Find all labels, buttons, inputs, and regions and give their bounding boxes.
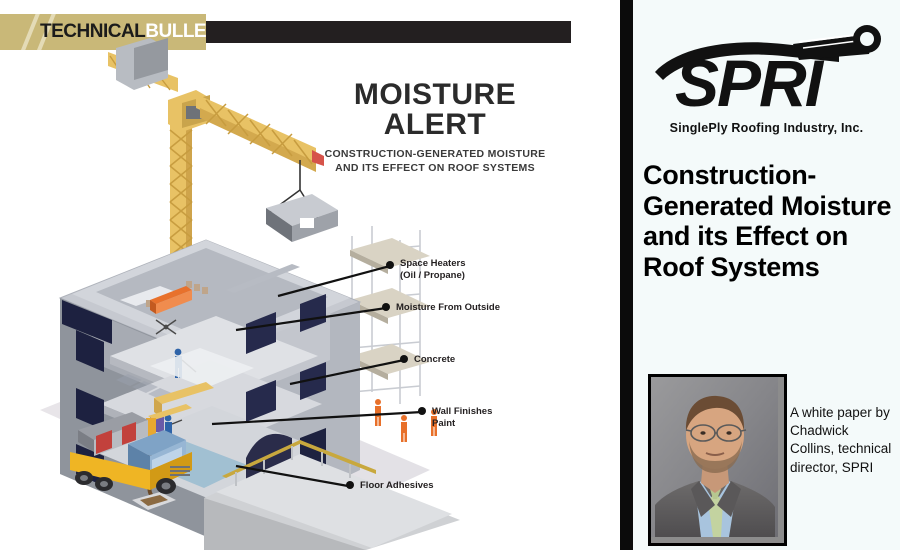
worker-orange-icon <box>375 399 381 426</box>
worker-orange-icon <box>401 415 407 442</box>
moisture-alert-subtitle-line1: CONSTRUCTION-GENERATED MOISTURE <box>300 147 570 161</box>
author-photo <box>648 374 787 546</box>
white-paper-title: Construction-Generated Moisture and its … <box>643 160 895 282</box>
callout-dot-floor-adhesives <box>346 481 354 489</box>
svg-text:SPRI: SPRI <box>675 46 825 120</box>
spri-logo-tagline: SinglePly Roofing Industry, Inc. <box>643 121 890 135</box>
hoisted-panel-icon <box>266 194 338 242</box>
panel-divider <box>620 0 633 550</box>
callout-dot-concrete <box>400 355 408 363</box>
callout-label-floor-adhesives: Floor Adhesives <box>360 480 434 492</box>
callout-dot-wall-finishes-paint <box>418 407 426 415</box>
callout-label-concrete: Concrete <box>414 354 455 366</box>
author-byline: A white paper by Chadwick Collins, techn… <box>790 404 895 477</box>
moisture-alert-title-block: MOISTURE ALERT CONSTRUCTION-GENERATED MO… <box>300 80 570 175</box>
spri-logo: SPRI SinglePly Roofing Industry, Inc. <box>643 14 890 139</box>
callout-dot-space-heaters <box>386 261 394 269</box>
technical-bulletin-page: TECHNICALBULLETIN <box>0 0 900 550</box>
spri-logo-mark-icon: SPRI <box>643 14 890 124</box>
callout-label-wall-finishes-paint: Wall Finishes Paint <box>432 406 492 430</box>
moisture-alert-subtitle-line2: AND ITS EFFECT ON ROOF SYSTEMS <box>300 161 570 175</box>
moisture-alert-title: MOISTURE ALERT <box>300 80 570 140</box>
callout-dot-moisture-from-outside <box>382 303 390 311</box>
author-portrait-image <box>651 377 778 537</box>
callout-label-moisture-from-outside: Moisture From Outside <box>396 302 500 314</box>
callout-label-space-heaters: Space Heaters (Oil / Propane) <box>400 258 465 282</box>
left-cover-panel: TECHNICALBULLETIN <box>0 0 620 550</box>
